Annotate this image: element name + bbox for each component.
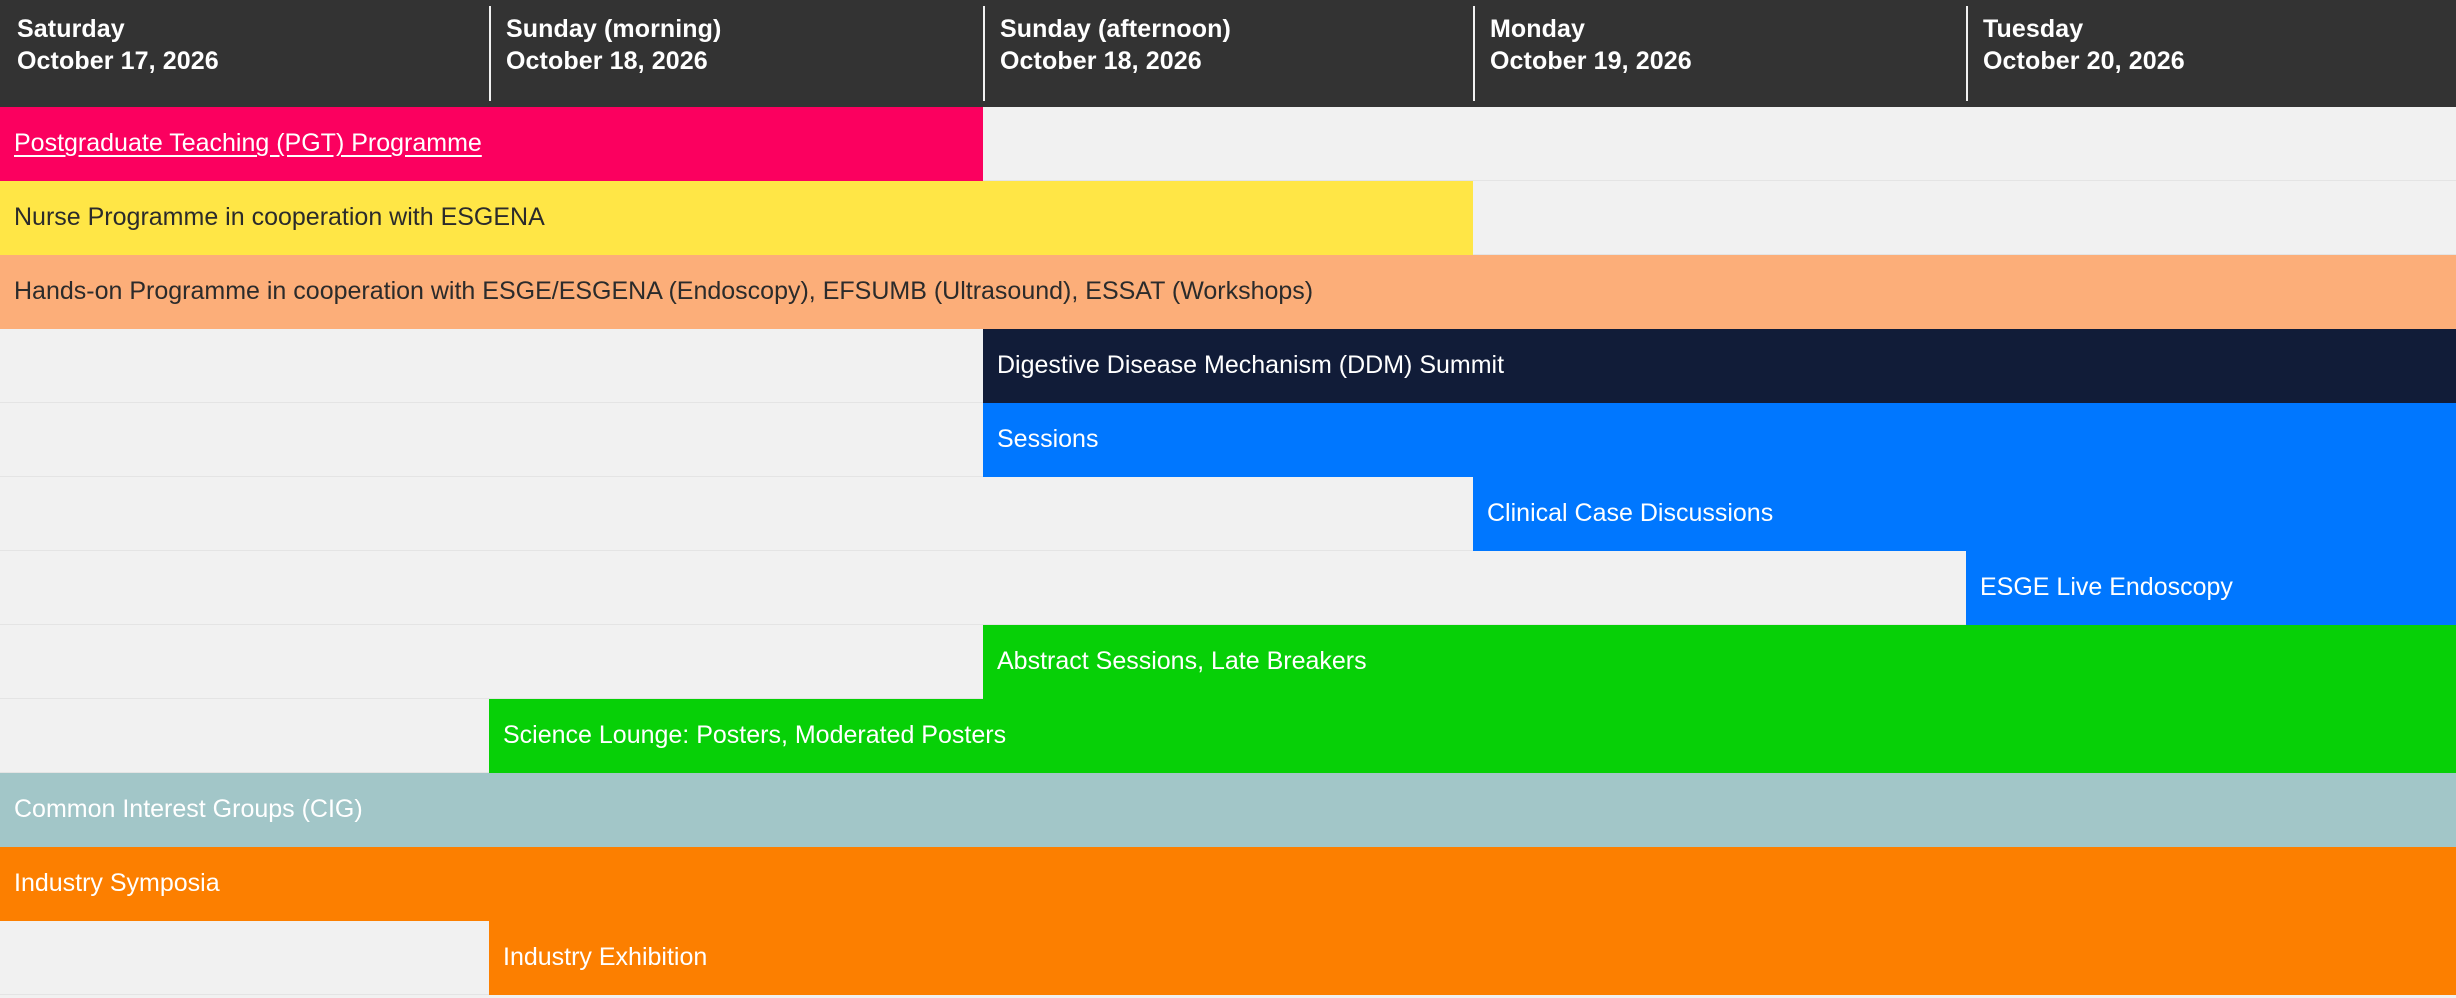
track-row: Nurse Programme in cooperation with ESGE… — [0, 181, 2456, 255]
track-row: Science Lounge: Posters, Moderated Poste… — [0, 699, 2456, 773]
programme-bar-label: Clinical Case Discussions — [1487, 500, 1773, 528]
day-header-saturday: SaturdayOctober 17, 2026 — [0, 0, 489, 107]
track-row: Hands-on Programme in cooperation with E… — [0, 255, 2456, 329]
day-header-date: October 18, 2026 — [1000, 46, 1473, 78]
programme-bar-abstract-sessions[interactable]: Abstract Sessions, Late Breakers — [983, 625, 2456, 699]
track-row: Industry Symposia — [0, 847, 2456, 921]
track-row: ESGE Live Endoscopy — [0, 551, 2456, 625]
day-header-name: Monday — [1490, 14, 1966, 46]
programme-bar-nurse[interactable]: Nurse Programme in cooperation with ESGE… — [0, 181, 1473, 255]
programme-bar-label: Postgraduate Teaching (PGT) Programme — [14, 130, 482, 158]
programme-bar-hands-on[interactable]: Hands-on Programme in cooperation with E… — [0, 255, 2456, 329]
programme-bar-label: Abstract Sessions, Late Breakers — [997, 648, 1367, 676]
programme-bar-label: ESGE Live Endoscopy — [1980, 574, 2233, 602]
programme-track-grid: Postgraduate Teaching (PGT) ProgrammeNur… — [0, 107, 2456, 998]
track-row: Industry Exhibition — [0, 921, 2456, 995]
programme-bar-label: Hands-on Programme in cooperation with E… — [14, 278, 1313, 306]
programme-bar-science-lounge[interactable]: Science Lounge: Posters, Moderated Poste… — [489, 699, 2456, 773]
programme-bar-label: Common Interest Groups (CIG) — [14, 796, 363, 824]
programme-bar-label: Digestive Disease Mechanism (DDM) Summit — [997, 352, 1504, 380]
programme-bar-label: Industry Symposia — [14, 870, 220, 898]
track-row: Digestive Disease Mechanism (DDM) Summit — [0, 329, 2456, 403]
programme-bar-ddm-summit[interactable]: Digestive Disease Mechanism (DDM) Summit — [983, 329, 2456, 403]
day-header-date: October 20, 2026 — [1983, 46, 2456, 78]
track-row: Clinical Case Discussions — [0, 477, 2456, 551]
conference-programme-overview: SaturdayOctober 17, 2026Sunday (morning)… — [0, 0, 2456, 998]
programme-bar-sessions[interactable]: Sessions — [983, 403, 2456, 477]
programme-bar-pgt[interactable]: Postgraduate Teaching (PGT) Programme — [0, 107, 983, 181]
day-header-name: Saturday — [17, 14, 489, 46]
track-row: Postgraduate Teaching (PGT) Programme — [0, 107, 2456, 181]
day-header-date: October 19, 2026 — [1490, 46, 1966, 78]
programme-bar-label: Industry Exhibition — [503, 944, 707, 972]
day-header-date: October 17, 2026 — [17, 46, 489, 78]
day-header-sunday-morning: Sunday (morning)October 18, 2026 — [489, 0, 983, 107]
track-row: Common Interest Groups (CIG) — [0, 773, 2456, 847]
programme-bar-label: Nurse Programme in cooperation with ESGE… — [14, 204, 545, 232]
day-header-tuesday: TuesdayOctober 20, 2026 — [1966, 0, 2456, 107]
track-row: Sessions — [0, 403, 2456, 477]
programme-bar-label: Science Lounge: Posters, Moderated Poste… — [503, 722, 1006, 750]
programme-bar-esge-live-endoscopy[interactable]: ESGE Live Endoscopy — [1966, 551, 2456, 625]
programme-bar-industry-symposia[interactable]: Industry Symposia — [0, 847, 2456, 921]
programme-bar-common-interest-groups[interactable]: Common Interest Groups (CIG) — [0, 773, 2456, 847]
programme-bar-industry-exhibition[interactable]: Industry Exhibition — [489, 921, 2456, 995]
programme-bar-clinical-case-discussions[interactable]: Clinical Case Discussions — [1473, 477, 2456, 551]
day-header-name: Sunday (afternoon) — [1000, 14, 1473, 46]
track-row: Abstract Sessions, Late Breakers — [0, 625, 2456, 699]
day-header-sunday-afternoon: Sunday (afternoon)October 18, 2026 — [983, 0, 1473, 107]
day-header-name: Tuesday — [1983, 14, 2456, 46]
day-header-name: Sunday (morning) — [506, 14, 983, 46]
programme-bar-label: Sessions — [997, 426, 1098, 454]
day-header-monday: MondayOctober 19, 2026 — [1473, 0, 1966, 107]
day-header-row: SaturdayOctober 17, 2026Sunday (morning)… — [0, 0, 2456, 107]
day-header-date: October 18, 2026 — [506, 46, 983, 78]
